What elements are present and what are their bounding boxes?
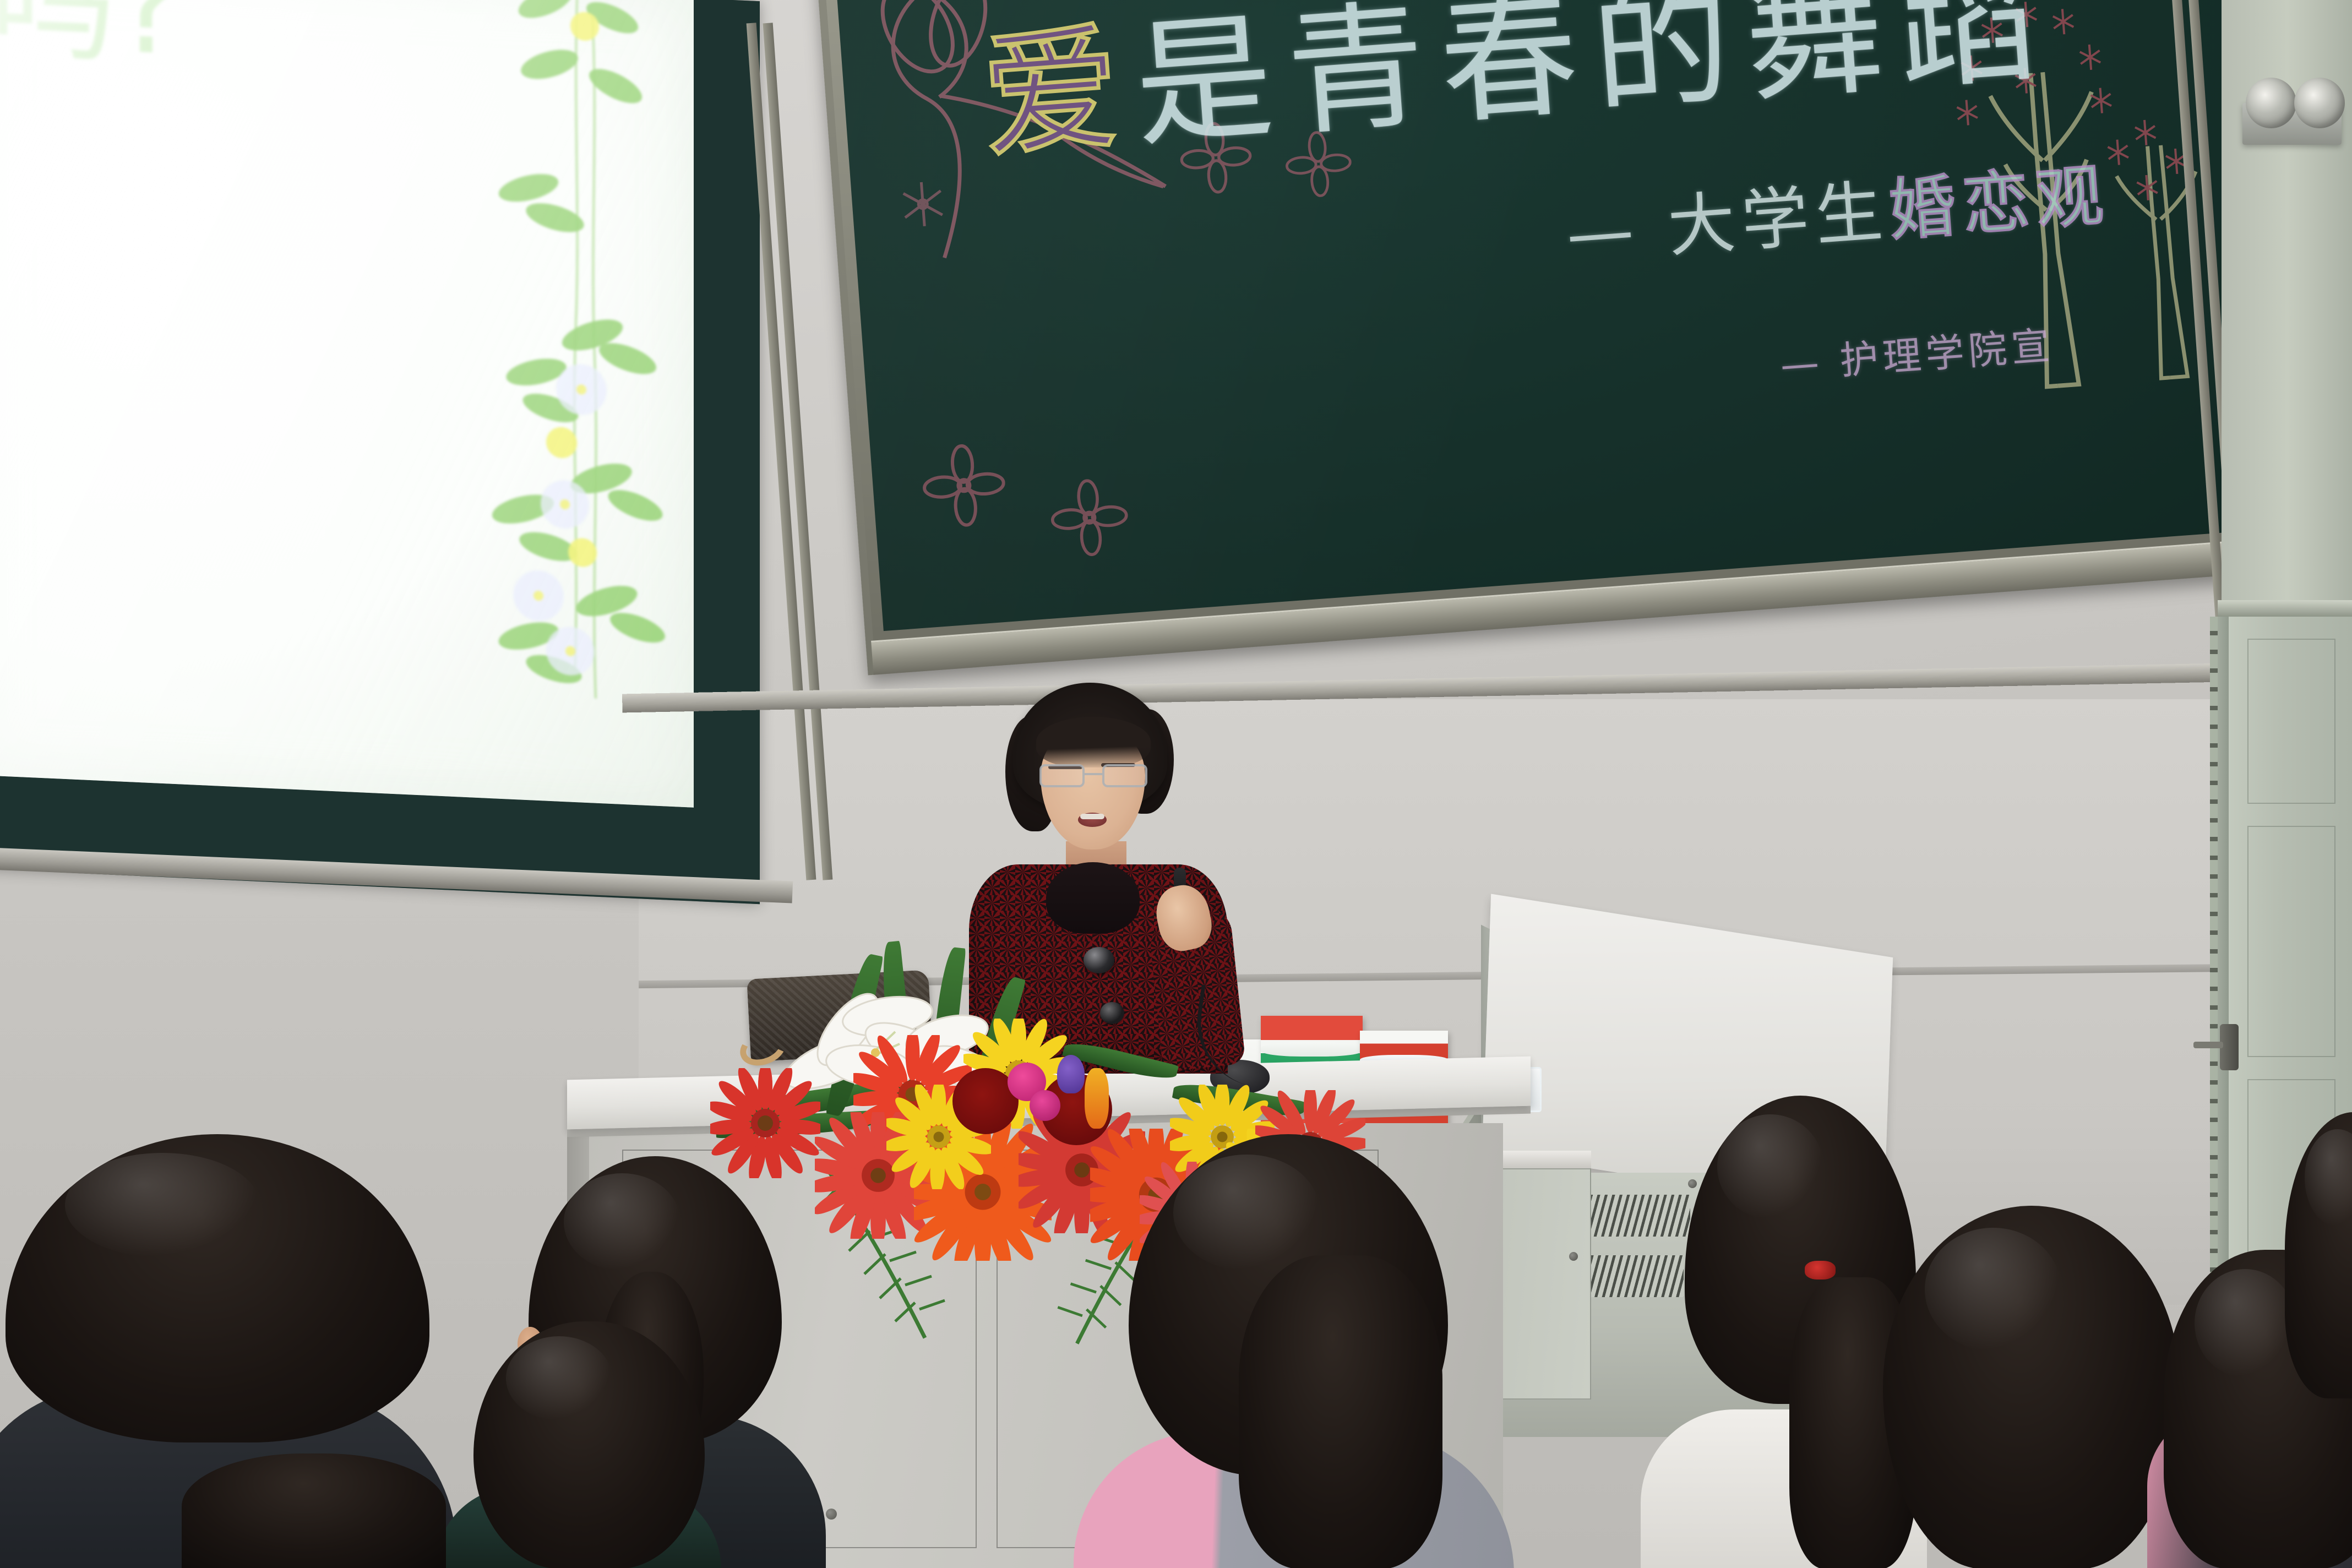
- door-frame-header: [2218, 600, 2352, 617]
- cabinet-screw: [1569, 1252, 1578, 1261]
- decorated-chalkboard: 爱是青春的舞蹈 — 大学生婚恋观 — 护理学院宣: [815, 0, 2290, 675]
- chalkboard-title-first-char: 爱: [977, 6, 1141, 177]
- chalk-ribbon-decoration-icon: [841, 0, 1203, 269]
- cabinet-screw: [1688, 1179, 1697, 1188]
- glasses-lens: [1102, 764, 1147, 787]
- chalk-blossom-icon: [920, 441, 1009, 530]
- hair-highlight: [2305, 1129, 2352, 1227]
- hair-highlight: [506, 1336, 612, 1420]
- door-weatherstrip: [2210, 617, 2218, 1360]
- presenter-mouth: [1078, 813, 1107, 827]
- bouquet-purple-accent: [1057, 1055, 1085, 1093]
- chalkboard-surface: 爱是青春的舞蹈 — 大学生婚恋观 — 护理学院宣: [835, 0, 2268, 631]
- chalkboard-subtitle-highlight: 婚恋观: [1886, 156, 2112, 250]
- presenter-inner-top: [1046, 862, 1140, 934]
- chalkboard-credit: — 护理学院宣: [1778, 314, 2056, 390]
- student-bottom-left-head: [182, 1453, 446, 1568]
- slide-text: 吗?: [0, 0, 183, 74]
- hair-highlight: [1173, 1155, 1320, 1271]
- emergency-exit-light: [2233, 74, 2348, 146]
- chalkboard-subtitle-plain: — 大学生: [1564, 172, 1892, 274]
- bouquet-magenta-accent: [1030, 1090, 1060, 1121]
- lectern-screw: [826, 1509, 837, 1520]
- door-panel: [2247, 826, 2335, 1057]
- emergency-light-lamp: [2246, 78, 2296, 128]
- student-center-ponytail: [1239, 1255, 1442, 1568]
- glasses-bridge: [1085, 773, 1102, 775]
- student-center-right-hair-tie: [1805, 1261, 1836, 1280]
- emergency-light-lamp: [2294, 78, 2345, 128]
- presenter-glasses-icon: [1039, 764, 1147, 788]
- door-handle-lever: [2193, 1042, 2223, 1048]
- hair-highlight: [1717, 1114, 1823, 1219]
- projection-screen: 吗?: [0, 0, 760, 904]
- door-handle[interactable]: [2220, 1024, 2239, 1070]
- chalkboard-title: 爱是青春的舞蹈: [977, 0, 2056, 166]
- chalkboard-title-rest: 是青春的舞蹈: [1129, 0, 2057, 166]
- hair-highlight: [2195, 1269, 2296, 1378]
- door-panel: [2247, 639, 2335, 804]
- hair-highlight: [1925, 1228, 2061, 1351]
- hair-highlight: [564, 1173, 680, 1271]
- lecture-hall-photograph: 吗?: [0, 0, 2352, 1568]
- chalk-blossom-icon: [1283, 129, 1354, 199]
- hair-highlight: [65, 1153, 260, 1257]
- student-left-low-head: [473, 1321, 705, 1568]
- glasses-lens: [1039, 764, 1085, 787]
- projection-screen-surface: 吗?: [0, 0, 694, 808]
- chalkboard-subtitle: — 大学生婚恋观: [1564, 161, 2112, 268]
- bouquet-orange-spike: [1085, 1068, 1109, 1129]
- presenter-teeth: [1080, 814, 1104, 819]
- chalk-blossom-icon: [1048, 476, 1131, 559]
- presenter-bangs: [1036, 717, 1151, 767]
- student-right-head: [1883, 1206, 2180, 1568]
- vine-decoration-icon: [462, 0, 694, 769]
- chalk-blossom-icon: [1178, 119, 1254, 196]
- bouquet-red-gerbera-icon: [710, 1068, 820, 1178]
